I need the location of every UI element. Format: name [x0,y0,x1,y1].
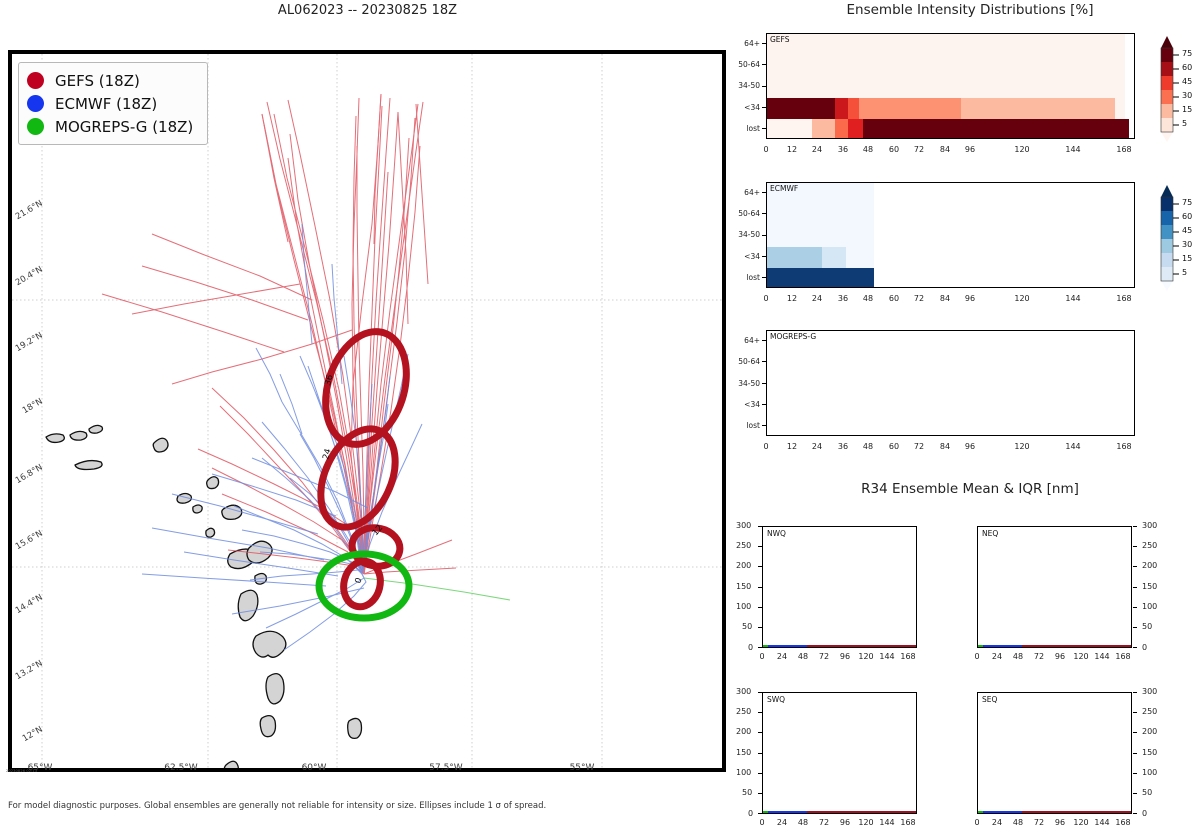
swq-ylab-0: 0 [748,809,753,818]
mogreps-heatmap-cells[interactable] [767,331,1134,435]
seq-ytick-200 [1133,732,1137,733]
seq-ytick-50 [1133,793,1137,794]
swq-ytick-250 [758,712,762,713]
nwq-ylab-150: 150 [736,582,751,591]
seq-ylab-250: 250 [1142,707,1157,716]
heat-cell-64plus[interactable] [767,34,1125,55]
legend-item-gefs[interactable]: GEFS (18Z) [27,69,193,92]
gefs-ylabel-64plus: 64+ [726,39,760,48]
neq-ylab-0: 0 [1142,643,1147,652]
ecmwf-cbar-tick-30: 30 [1182,240,1192,249]
track-map-canvas[interactable]: 36 24 12 0 [12,54,722,768]
map-lon-tick-62p5w: 62.5°W [155,763,207,773]
swq-ytick-200 [758,732,762,733]
mogreps-ytick-1 [762,361,766,362]
swq-ytick-100 [758,773,762,774]
ecmwf-cell-lost[interactable] [767,268,874,288]
mogreps-xlab-36: 36 [831,442,855,451]
gefs-cbar-tick-15: 15 [1182,105,1192,114]
map-timestamp: 20230826 02:13 [6,769,37,773]
page-title: AL062023 -- 20230825 18Z [0,3,735,18]
nwq-ytick-50 [758,627,762,628]
map-lon-tick-60w: 60°W [288,763,340,773]
swq-xlab-96: 96 [835,818,855,827]
nwq-xlab-168: 168 [896,652,920,661]
ecmwf-xlab-72: 72 [907,294,931,303]
heat-cell-lost-a[interactable] [767,119,812,139]
swq-series-ecmwf [768,811,808,813]
ecmwf-xlab-84: 84 [933,294,957,303]
gefs-ytick-4 [762,128,766,129]
nwq-series-gefs [807,645,916,647]
seq-ytick-100 [1133,773,1137,774]
gefs-xlab-0: 0 [754,145,778,154]
neq-xlab-0: 0 [967,652,987,661]
mogreps-xlab-12: 12 [780,442,804,451]
seq-xlab-24: 24 [987,818,1007,827]
ecmwf-xlab-0: 0 [754,294,778,303]
swq-series-gefs [807,811,916,813]
track-map-panel[interactable]: 36 24 12 0 [8,50,726,772]
ecmwf-xlab-96: 96 [958,294,982,303]
ecmwf-ytick-0 [762,192,766,193]
map-legend[interactable]: GEFS (18Z) ECMWF (18Z) MOGREPS-G (18Z) [18,62,208,145]
ecmwf-heatmap-cells[interactable] [767,183,1134,287]
ecmwf-ylabel-lost: lost [726,273,760,282]
mogreps-color-swatch [27,118,44,135]
gefs-ylabel-lt34: <34 [726,103,760,112]
nwq-xlab-24: 24 [772,652,792,661]
ecmwf-ytick-2 [762,235,766,236]
legend-item-ecmwf[interactable]: ECMWF (18Z) [27,92,193,115]
gefs-xlab-144: 144 [1061,145,1085,154]
neq-ylab-100: 100 [1142,602,1157,611]
panel-label-mogreps: MOGREPS-G [770,332,816,341]
gefs-cbar-tick-45: 45 [1182,77,1192,86]
nwq-ylab-200: 200 [736,561,751,570]
neq-ylab-150: 150 [1142,582,1157,591]
ecmwf-colorbar[interactable]: 75 60 45 30 15 5 [1157,183,1197,293]
swq-ytick-50 [758,793,762,794]
swq-xlab-48: 48 [793,818,813,827]
gefs-xlab-72: 72 [907,145,931,154]
intensity-panel-gefs[interactable]: GEFS [766,33,1135,139]
ecmwf-cbar-tick-75: 75 [1182,198,1192,207]
heat-cell-lost-d[interactable] [848,119,863,139]
nwq-ytick-100 [758,607,762,608]
gefs-cbar-tick-60: 60 [1182,63,1192,72]
nwq-xlab-0: 0 [752,652,772,661]
r34-panel-nwq[interactable]: NWQ [762,526,917,648]
swq-ylab-100: 100 [736,768,751,777]
mogreps-xlab-96: 96 [958,442,982,451]
mogreps-xlab-0: 0 [754,442,778,451]
nwq-ylab-100: 100 [736,602,751,611]
seq-ytick-250 [1133,712,1137,713]
gefs-xlab-24: 24 [805,145,829,154]
ecmwf-cbar-tick-60: 60 [1182,212,1192,221]
mogreps-ytick-0 [762,340,766,341]
neq-xlab-48: 48 [1008,652,1028,661]
heat-cell-lt34-c[interactable] [848,98,859,119]
swq-ytick-0 [758,813,762,814]
heat-cell-lt34-e[interactable] [961,98,1115,119]
footer-disclaimer: For model diagnostic purposes. Global en… [8,801,546,811]
mogreps-xlab-48: 48 [856,442,880,451]
map-lon-tick-57p5w: 57.5°W [420,763,472,773]
map-lon-tick-55w: 55°W [556,763,608,773]
panel-label-nwq: NWQ [767,529,786,538]
mogreps-xlab-72: 72 [907,442,931,451]
mogreps-xlab-84: 84 [933,442,957,451]
neq-ytick-0 [1133,647,1137,648]
intensity-panel-ecmwf[interactable]: ECMWF [766,182,1135,288]
panel-label-neq: NEQ [982,529,998,538]
ecmwf-ylabel-lt34: <34 [726,252,760,261]
legend-label-ecmwf: ECMWF (18Z) [55,95,157,113]
heat-cell-lt34-b[interactable] [835,98,848,119]
gefs-ytick-3 [762,107,766,108]
seq-series-gefs [1022,811,1131,813]
mogreps-ytick-3 [762,404,766,405]
heat-cell-lt34-a[interactable] [767,98,835,119]
gefs-heatmap-cells[interactable] [767,34,1134,138]
nwq-ytick-0 [758,647,762,648]
ecmwf-cbar-tick-45: 45 [1182,226,1192,235]
mogreps-ylabel-34-50: 34-50 [726,379,760,388]
ecmwf-xlab-48: 48 [856,294,880,303]
gefs-cbar-tick-5: 5 [1182,119,1187,128]
swq-ytick-150 [758,753,762,754]
legend-item-mogreps[interactable]: MOGREPS-G (18Z) [27,115,193,138]
panel-label-seq: SEQ [982,695,997,704]
r34-section-title: R34 Ensemble Mean & IQR [nm] [740,481,1200,497]
mogreps-xlab-144: 144 [1061,442,1085,451]
neq-ytick-50 [1133,627,1137,628]
swq-ylab-50: 50 [742,788,752,797]
nwq-ytick-150 [758,587,762,588]
seq-ylab-50: 50 [1142,788,1152,797]
ecmwf-ylabel-50-64: 50-64 [726,209,760,218]
swq-ylab-200: 200 [736,727,751,736]
gefs-cbar-tick-75: 75 [1182,49,1192,58]
seq-xlab-96: 96 [1050,818,1070,827]
intensity-section-title: Ensemble Intensity Distributions [%] [740,2,1200,18]
neq-xlab-24: 24 [987,652,1007,661]
mogreps-ylabel-64plus: 64+ [726,336,760,345]
ecmwf-xlab-60: 60 [882,294,906,303]
neq-ytick-200 [1133,566,1137,567]
ecmwf-cell-34-50[interactable] [767,225,874,246]
neq-xlab-168: 168 [1111,652,1135,661]
mogreps-ylabel-lt34: <34 [726,400,760,409]
panel-label-swq: SWQ [767,695,785,704]
nwq-ylab-250: 250 [736,541,751,550]
gefs-xlab-60: 60 [882,145,906,154]
neq-xlab-72: 72 [1029,652,1049,661]
neq-ylab-250: 250 [1142,541,1157,550]
gefs-xlab-84: 84 [933,145,957,154]
gefs-ytick-0 [762,43,766,44]
ecmwf-cell-lt34-a[interactable] [767,247,822,268]
gefs-colorbar[interactable]: 75 60 45 30 15 5 [1157,34,1197,144]
gefs-xlab-120: 120 [1010,145,1034,154]
ecmwf-cell-lt34-b[interactable] [822,247,846,268]
heat-cell-lt34-d[interactable] [859,98,961,119]
swq-ylab-300: 300 [736,687,751,696]
neq-ylab-300: 300 [1142,521,1157,530]
gefs-color-swatch [27,72,44,89]
seq-ylab-200: 200 [1142,727,1157,736]
gefs-ylabel-34-50: 34-50 [726,81,760,90]
ecmwf-xlab-168: 168 [1112,294,1136,303]
gefs-xlab-12: 12 [780,145,804,154]
legend-label-mogreps: MOGREPS-G (18Z) [55,118,193,136]
neq-ylab-200: 200 [1142,561,1157,570]
gefs-xlab-48: 48 [856,145,880,154]
panel-label-gefs: GEFS [770,35,790,44]
ecmwf-ytick-4 [762,277,766,278]
seq-ytick-150 [1133,753,1137,754]
gefs-xlab-168: 168 [1112,145,1136,154]
swq-xlab-24: 24 [772,818,792,827]
neq-ytick-250 [1133,546,1137,547]
mogreps-ytick-2 [762,383,766,384]
nwq-xlab-48: 48 [793,652,813,661]
swq-ylab-250: 250 [736,707,751,716]
heat-cell-lost-c[interactable] [835,119,848,139]
ecmwf-xlab-120: 120 [1010,294,1034,303]
ecmwf-xlab-12: 12 [780,294,804,303]
seq-ylab-150: 150 [1142,748,1157,757]
nwq-ytick-300 [758,526,762,527]
mogreps-ytick-4 [762,425,766,426]
gefs-ylabel-lost: lost [726,124,760,133]
swq-xlab-0: 0 [752,818,772,827]
panel-label-ecmwf: ECMWF [770,184,798,193]
nwq-ytick-250 [758,546,762,547]
seq-xlab-0: 0 [967,818,987,827]
gefs-xlab-36: 36 [831,145,855,154]
ecmwf-ylabel-34-50: 34-50 [726,230,760,239]
ecmwf-xlab-36: 36 [831,294,855,303]
nwq-xlab-96: 96 [835,652,855,661]
mogreps-ylabel-lost: lost [726,421,760,430]
r34-panel-neq[interactable]: NEQ [977,526,1132,648]
nwq-ylab-50: 50 [742,622,752,631]
seq-xlab-72: 72 [1029,818,1049,827]
gefs-ytick-2 [762,86,766,87]
ecmwf-ytick-3 [762,256,766,257]
seq-ylab-0: 0 [1142,809,1147,818]
seq-series-ecmwf [983,811,1023,813]
neq-xlab-96: 96 [1050,652,1070,661]
neq-series-gefs [1022,645,1131,647]
heat-cell-lost-b[interactable] [812,119,835,139]
ecmwf-xlab-24: 24 [805,294,829,303]
ecmwf-cell-50-64[interactable] [767,204,874,225]
seq-xlab-168: 168 [1111,818,1135,827]
gefs-xlab-96: 96 [958,145,982,154]
swq-ytick-300 [758,692,762,693]
swq-ylab-150: 150 [736,748,751,757]
mogreps-xlab-168: 168 [1112,442,1136,451]
seq-ytick-0 [1133,813,1137,814]
neq-ytick-100 [1133,607,1137,608]
heat-cell-50-64[interactable] [767,55,1125,76]
nwq-ylab-0: 0 [748,643,753,652]
neq-ytick-150 [1133,587,1137,588]
r34-panel-seq[interactable]: SEQ [977,692,1132,814]
mogreps-ylabel-50-64: 50-64 [726,357,760,366]
seq-xlab-48: 48 [1008,818,1028,827]
neq-ytick-300 [1133,526,1137,527]
gefs-cbar-tick-30: 30 [1182,91,1192,100]
swq-xlab-168: 168 [896,818,920,827]
heat-cell-34-50[interactable] [767,76,1125,97]
ecmwf-cbar-tick-5: 5 [1182,268,1187,277]
gefs-ylabel-50-64: 50-64 [726,60,760,69]
neq-ylab-50: 50 [1142,622,1152,631]
mogreps-xlab-60: 60 [882,442,906,451]
mogreps-xlab-24: 24 [805,442,829,451]
heat-cell-lt34-f[interactable] [1115,98,1125,119]
ecmwf-ytick-1 [762,213,766,214]
mogreps-xlab-120: 120 [1010,442,1034,451]
seq-ytick-300 [1133,692,1137,693]
nwq-xlab-72: 72 [814,652,834,661]
heat-cell-lost-e[interactable] [863,119,1129,139]
ecmwf-ylabel-64plus: 64+ [726,188,760,197]
neq-series-ecmwf [983,645,1023,647]
gefs-ytick-1 [762,64,766,65]
swq-xlab-72: 72 [814,818,834,827]
nwq-ylab-300: 300 [736,521,751,530]
nwq-series-ecmwf [768,645,808,647]
ecmwf-cbar-tick-15: 15 [1182,254,1192,263]
ecmwf-color-swatch [27,95,44,112]
ecmwf-xlab-144: 144 [1061,294,1085,303]
legend-label-gefs: GEFS (18Z) [55,72,140,90]
intensity-panel-mogreps[interactable]: MOGREPS-G [766,330,1135,436]
nwq-ytick-200 [758,566,762,567]
r34-panel-swq[interactable]: SWQ [762,692,917,814]
seq-ylab-100: 100 [1142,768,1157,777]
seq-ylab-300: 300 [1142,687,1157,696]
ecmwf-cell-lt34-c[interactable] [846,247,874,268]
